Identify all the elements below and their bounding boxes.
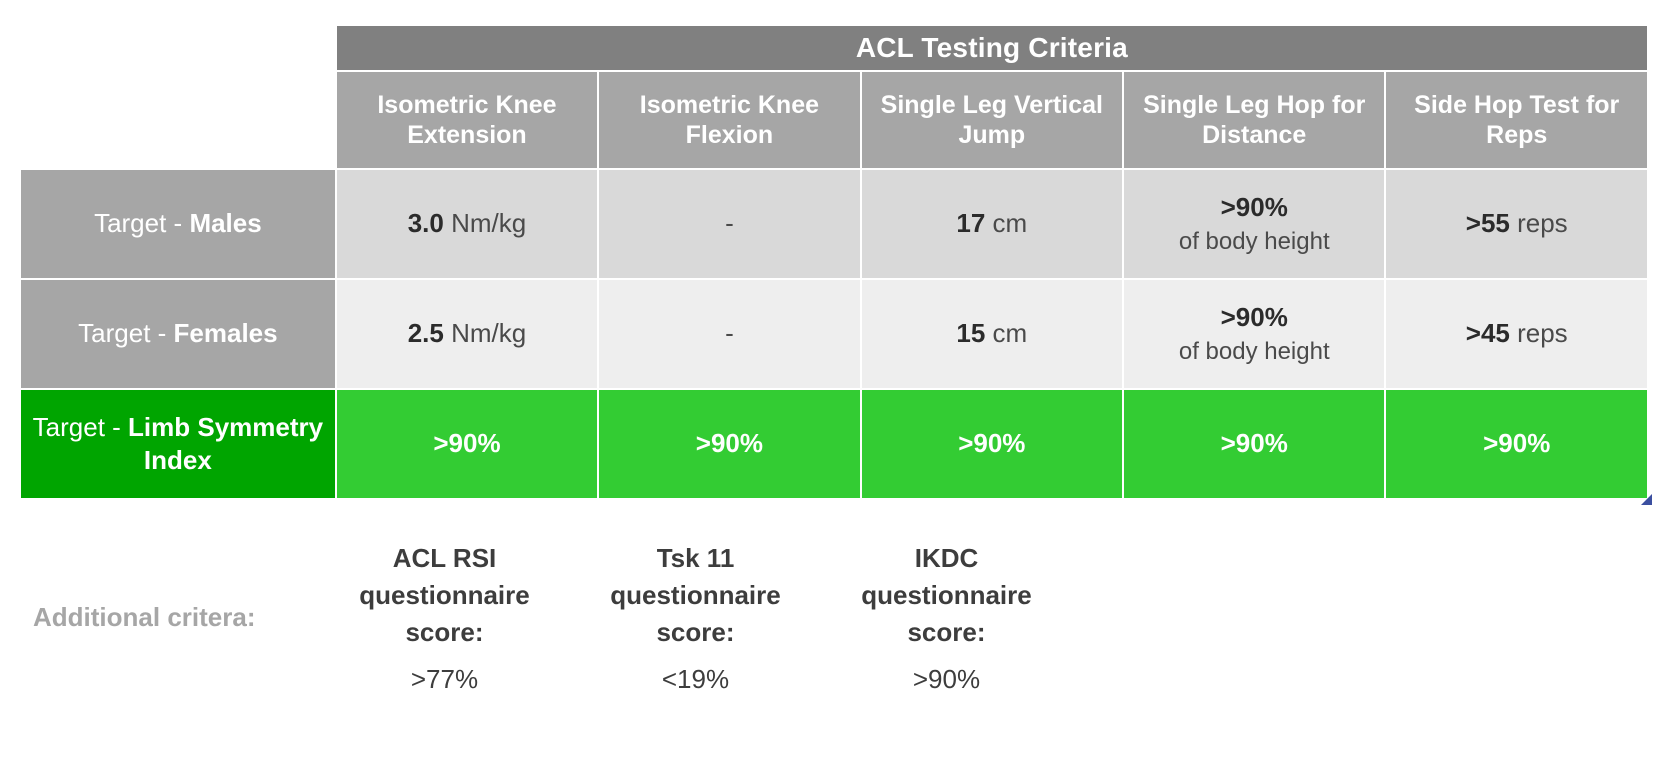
- additional-criteria-section: Additional critera: ACL RSI questionnair…: [19, 540, 1649, 695]
- cell-unit: cm: [985, 208, 1027, 238]
- cell-subtext: of body height: [1124, 336, 1384, 367]
- cell-lsi-single-leg-hop-for-distance: >90%: [1124, 390, 1384, 498]
- cell-lsi-isometric-knee-extension: >90%: [337, 390, 597, 498]
- cell-unit: Nm/kg: [444, 318, 526, 348]
- table-row: Target - Males 3.0 Nm/kg - 17 cm >90% of…: [21, 170, 1647, 278]
- additional-criteria-label-cell: Additional critera:: [19, 540, 319, 695]
- cell-lsi-isometric-knee-flexion: >90%: [599, 390, 859, 498]
- cell-males-isometric-knee-flexion: -: [599, 170, 859, 278]
- additional-criteria-title: Tsk 11 questionnaire score:: [576, 540, 815, 652]
- cell-value: 15: [956, 318, 985, 348]
- cell-value: >90%: [1221, 192, 1288, 222]
- table-corner-cell: [21, 26, 335, 70]
- cell-males-isometric-knee-extension: 3.0 Nm/kg: [337, 170, 597, 278]
- cell-males-side-hop-test-for-reps: >55 reps: [1386, 170, 1647, 278]
- cell-unit: cm: [985, 318, 1027, 348]
- row-label-strong: Females: [174, 318, 278, 348]
- cell-females-single-leg-hop-for-distance: >90% of body height: [1124, 280, 1384, 388]
- additional-criteria-title: ACL RSI questionnaire score:: [325, 540, 564, 652]
- table-corner-cell-2: [21, 72, 335, 168]
- table-banner-row: ACL Testing Criteria: [21, 26, 1647, 70]
- cell-subtext: of body height: [1124, 226, 1384, 257]
- cell-value: >90%: [1221, 302, 1288, 332]
- additional-criteria-value: >77%: [325, 664, 564, 695]
- row-label-prefix: Target -: [78, 318, 173, 348]
- column-header-isometric-knee-extension: Isometric Knee Extension: [337, 72, 597, 168]
- row-label-strong: Males: [189, 208, 261, 238]
- slide-root: ACL Testing Criteria Isometric Knee Exte…: [0, 0, 1678, 773]
- row-label-males: Target - Males: [21, 170, 335, 278]
- table-banner-title: ACL Testing Criteria: [337, 26, 1647, 70]
- cell-females-single-leg-vertical-jump: 15 cm: [862, 280, 1122, 388]
- cell-value: >90%: [1221, 428, 1288, 458]
- column-header-isometric-knee-flexion: Isometric Knee Flexion: [599, 72, 859, 168]
- row-label-prefix: Target -: [33, 412, 128, 442]
- row-label-prefix: Target -: [94, 208, 189, 238]
- additional-criteria-item-tsk-11: Tsk 11 questionnaire score: <19%: [570, 540, 821, 695]
- cell-unit: -: [725, 208, 734, 238]
- cell-value: >45: [1466, 318, 1510, 348]
- additional-criteria-title: IKDC questionnaire score:: [827, 540, 1066, 652]
- cell-females-isometric-knee-flexion: -: [599, 280, 859, 388]
- additional-criteria-label: Additional critera:: [33, 602, 255, 633]
- cell-value: >90%: [1483, 428, 1550, 458]
- cell-value: 3.0: [408, 208, 444, 238]
- cell-lsi-side-hop-test-for-reps: >90%: [1386, 390, 1647, 498]
- cell-lsi-single-leg-vertical-jump: >90%: [862, 390, 1122, 498]
- cell-males-single-leg-hop-for-distance: >90% of body height: [1124, 170, 1384, 278]
- row-label-limb-symmetry-index: Target - Limb Symmetry Index: [21, 390, 335, 498]
- column-header-side-hop-test-for-reps: Side Hop Test for Reps: [1386, 72, 1647, 168]
- column-header-single-leg-vertical-jump: Single Leg Vertical Jump: [862, 72, 1122, 168]
- cell-unit: Nm/kg: [444, 208, 526, 238]
- cell-males-single-leg-vertical-jump: 17 cm: [862, 170, 1122, 278]
- additional-criteria-item-acl-rsi: ACL RSI questionnaire score: >77%: [319, 540, 570, 695]
- cell-unit: -: [725, 318, 734, 348]
- cell-value: >90%: [696, 428, 763, 458]
- cell-value: 2.5: [408, 318, 444, 348]
- cell-value: >90%: [958, 428, 1025, 458]
- row-label-strong: Limb Symmetry Index: [128, 412, 323, 475]
- additional-criteria-spacer-2: [1323, 540, 1574, 695]
- additional-criteria-value: >90%: [827, 664, 1066, 695]
- table-row: Target - Females 2.5 Nm/kg - 15 cm >90% …: [21, 280, 1647, 388]
- cell-unit: reps: [1510, 208, 1568, 238]
- cell-females-isometric-knee-extension: 2.5 Nm/kg: [337, 280, 597, 388]
- cell-value: >55: [1466, 208, 1510, 238]
- cell-females-side-hop-test-for-reps: >45 reps: [1386, 280, 1647, 388]
- cell-value: >90%: [433, 428, 500, 458]
- table-row: Target - Limb Symmetry Index >90% >90% >…: [21, 390, 1647, 498]
- acl-criteria-table-wrapper: ACL Testing Criteria Isometric Knee Exte…: [19, 24, 1649, 500]
- table-header-row: Isometric Knee Extension Isometric Knee …: [21, 72, 1647, 168]
- cell-value: 17: [956, 208, 985, 238]
- additional-criteria-spacer-1: [1072, 540, 1323, 695]
- acl-criteria-table: ACL Testing Criteria Isometric Knee Exte…: [19, 24, 1649, 500]
- column-header-single-leg-hop-for-distance: Single Leg Hop for Distance: [1124, 72, 1384, 168]
- row-label-females: Target - Females: [21, 280, 335, 388]
- additional-criteria-value: <19%: [576, 664, 815, 695]
- cell-unit: reps: [1510, 318, 1568, 348]
- additional-criteria-item-ikdc: IKDC questionnaire score: >90%: [821, 540, 1072, 695]
